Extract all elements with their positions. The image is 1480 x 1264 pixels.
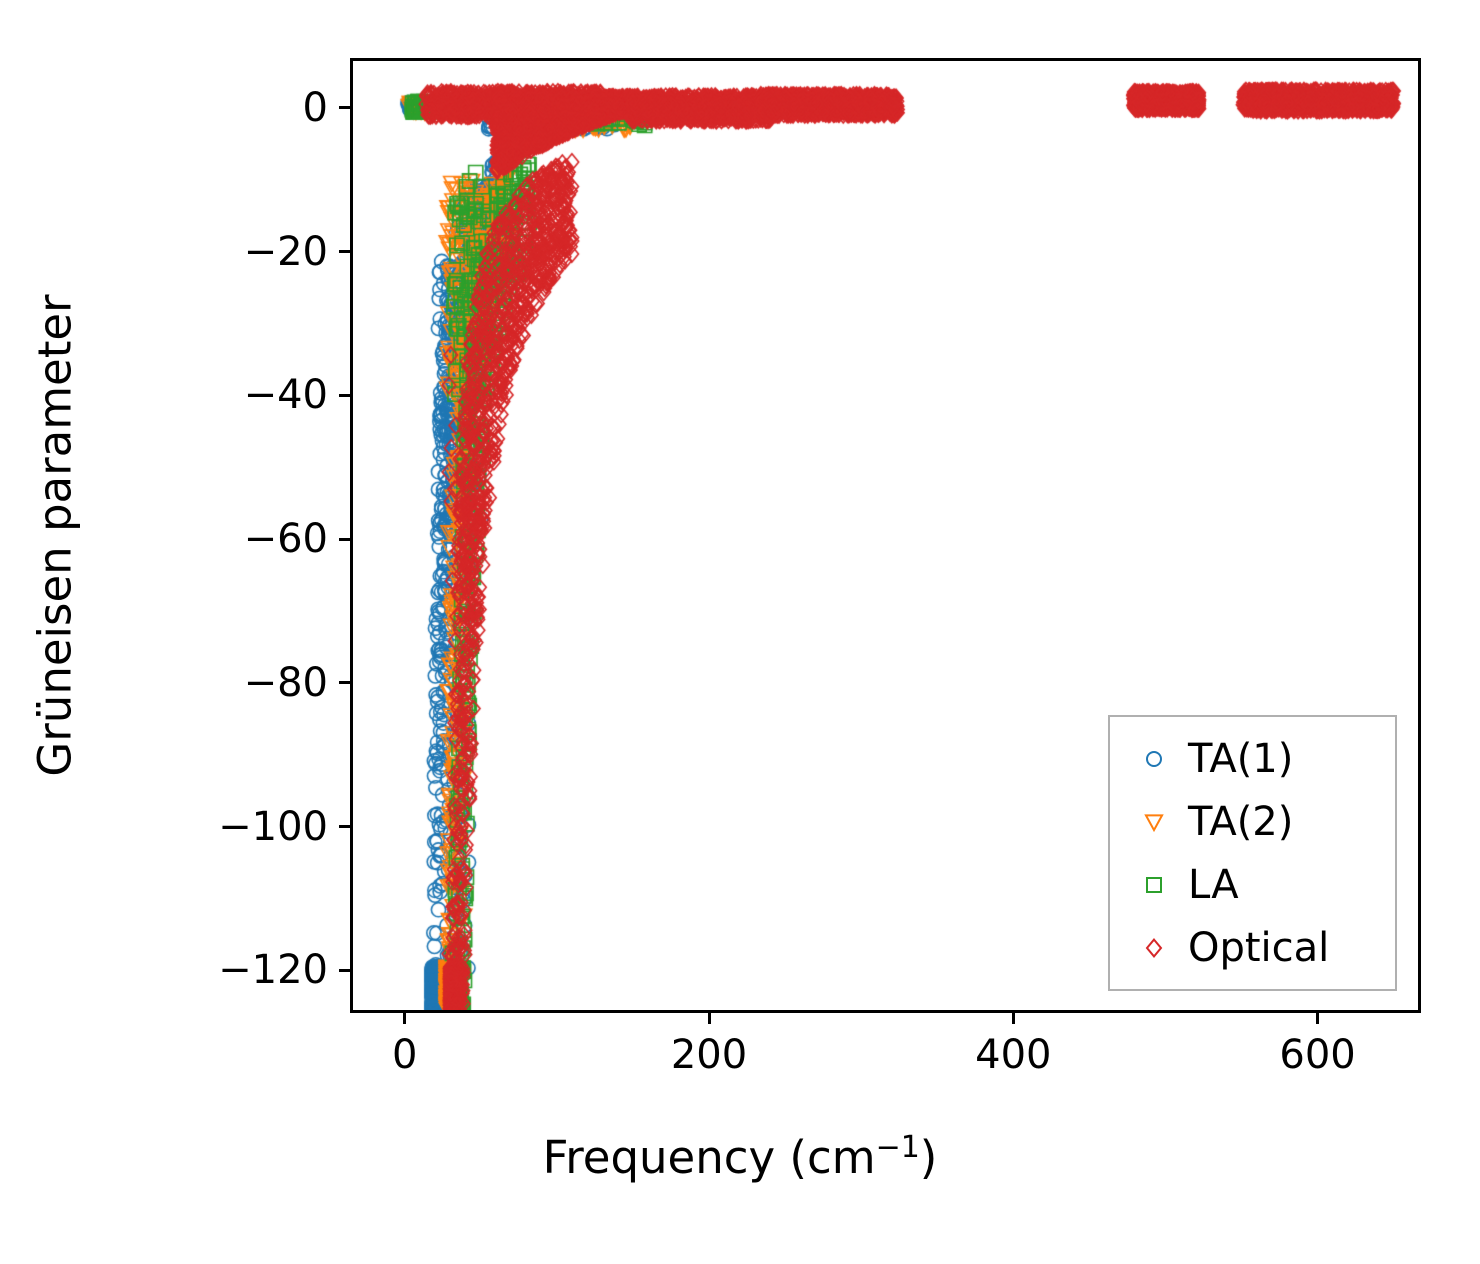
x-tick-label: 0 — [392, 1032, 417, 1078]
legend-box[interactable]: TA(1)TA(2)LAOptical — [1108, 715, 1397, 991]
y-tick-label: −120 — [218, 947, 328, 993]
figure-canvas: Grüneisen parameter 0−20−40−60−80−100−12… — [0, 0, 1480, 1264]
y-tick-mark — [339, 394, 350, 397]
legend-marker-triangle-down-icon — [1132, 812, 1176, 832]
x-tick-label: 600 — [1279, 1032, 1355, 1078]
legend-item-ta2[interactable]: TA(2) — [1110, 792, 1395, 852]
y-tick-mark — [339, 250, 350, 253]
legend-item-la[interactable]: LA — [1110, 855, 1395, 915]
x-tick-label: 200 — [671, 1032, 747, 1078]
y-tick-mark — [339, 681, 350, 684]
x-tick-mark — [708, 1013, 711, 1024]
legend-label: TA(1) — [1176, 736, 1293, 782]
x-tick-mark — [1012, 1013, 1015, 1024]
y-tick-mark — [339, 825, 350, 828]
legend-marker-square-icon — [1132, 875, 1176, 895]
legend-item-optical[interactable]: Optical — [1110, 918, 1395, 978]
y-tick-label: −60 — [244, 516, 328, 562]
legend-item-ta1[interactable]: TA(1) — [1110, 729, 1395, 789]
legend-label: Optical — [1176, 925, 1329, 971]
legend-label: TA(2) — [1176, 799, 1293, 845]
x-tick-label: 400 — [975, 1032, 1051, 1078]
x-tick-mark — [1316, 1013, 1319, 1024]
legend-label: LA — [1176, 862, 1239, 908]
x-tick-mark — [403, 1013, 406, 1024]
y-tick-mark — [339, 538, 350, 541]
y-axis-label-container: Grüneisen parameter — [0, 0, 110, 1071]
y-tick-label: −40 — [244, 372, 328, 418]
legend-marker-diamond-icon — [1132, 938, 1176, 958]
legend-marker-circle-icon — [1132, 749, 1176, 769]
y-tick-label: −100 — [218, 804, 328, 850]
y-tick-mark — [339, 969, 350, 972]
x-axis-label-tail: ) — [920, 1131, 938, 1184]
y-axis-label: Grüneisen parameter — [29, 294, 82, 776]
x-axis-label: Frequency (cm−1) — [0, 1130, 1480, 1184]
x-axis-label-superscript: −1 — [876, 1130, 920, 1165]
y-tick-label: −20 — [244, 229, 328, 275]
x-axis-label-main: Frequency (cm — [543, 1131, 876, 1184]
y-tick-label: 0 — [303, 85, 328, 131]
y-tick-mark — [339, 106, 350, 109]
y-tick-label: −80 — [244, 660, 328, 706]
